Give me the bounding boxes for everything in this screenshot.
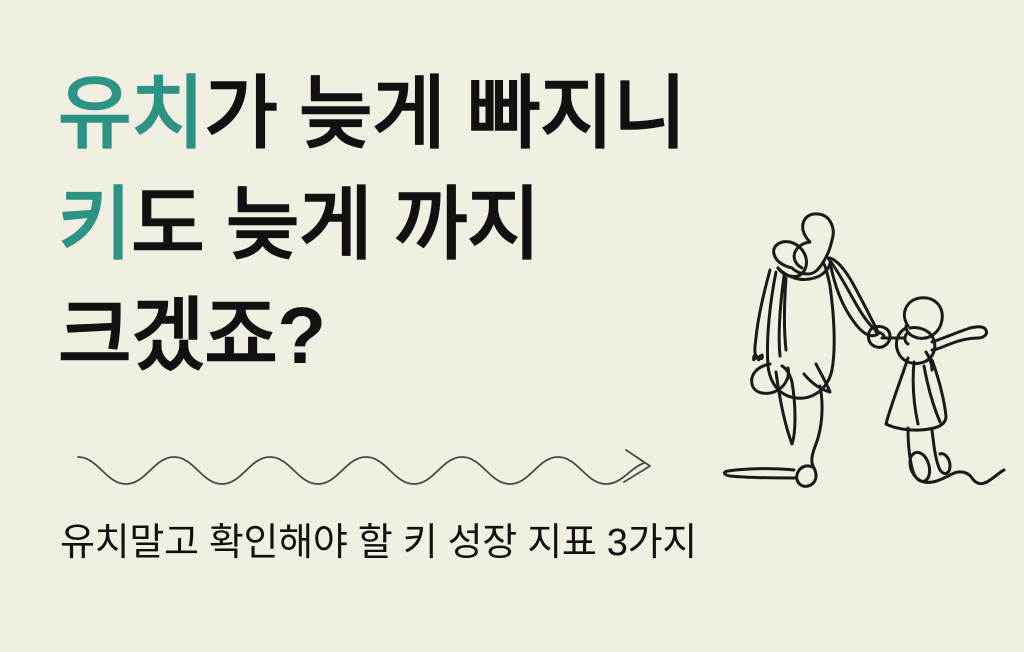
headline-line-2-rest: 도 늦게 까지 bbox=[131, 180, 540, 269]
headline-accent-word-2: 키 bbox=[58, 180, 131, 269]
child-left-leg bbox=[908, 428, 930, 482]
ground-line-left bbox=[724, 469, 796, 478]
child-cheek bbox=[905, 332, 908, 344]
child-head bbox=[904, 298, 942, 339]
headline-line-2: 키도 늦게 까지 bbox=[58, 169, 888, 280]
child-shoulder-strap bbox=[926, 352, 932, 370]
child-dress-fold bbox=[913, 362, 940, 424]
headline-line-1: 유치가 늦게 빠지니 bbox=[58, 58, 888, 169]
headline-accent-word-1: 유치 bbox=[58, 69, 204, 158]
headline: 유치가 늦게 빠지니 키도 늦게 까지 크겠죠? bbox=[58, 58, 888, 391]
child-dress bbox=[886, 358, 946, 430]
headline-line-3: 크겠죠? bbox=[58, 280, 888, 391]
child-right-leg bbox=[932, 430, 950, 473]
arrowhead-icon bbox=[624, 450, 650, 482]
wavy-line bbox=[78, 457, 644, 484]
poster-canvas: 유치가 늦게 빠지니 키도 늦게 까지 크겠죠? 유치말고 확인해야 할 키 성… bbox=[0, 0, 1024, 652]
mother-right-leg bbox=[812, 386, 822, 468]
wavy-arrow-divider bbox=[70, 432, 690, 502]
subtitle: 유치말고 확인해야 할 키 성장 지표 3가지 bbox=[60, 516, 697, 570]
child-right-arm bbox=[932, 327, 987, 350]
mother-foot bbox=[797, 466, 816, 486]
headline-line-1-rest: 가 늦게 빠지니 bbox=[204, 69, 686, 158]
child-face bbox=[896, 327, 934, 363]
ground-line-right bbox=[924, 470, 1004, 484]
